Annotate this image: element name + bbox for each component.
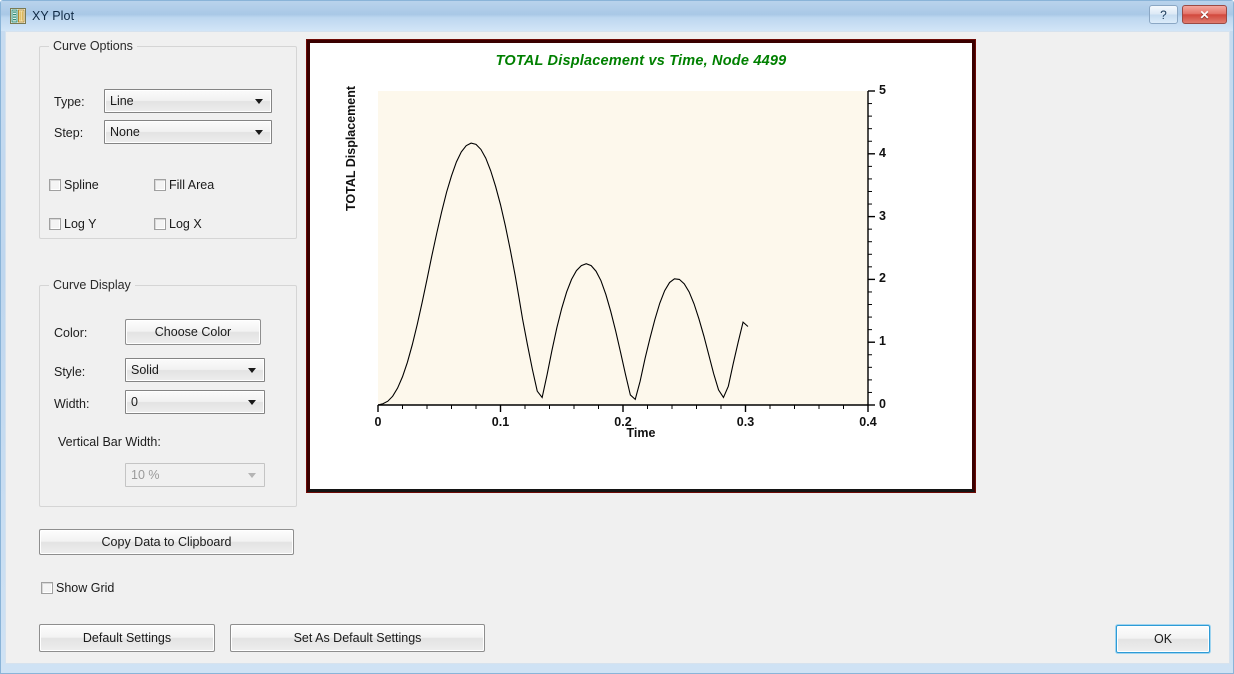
y-tick-label: 5 <box>879 83 886 97</box>
chevron-down-icon <box>255 130 263 135</box>
type-label: Type: <box>54 95 85 109</box>
copy-data-to-clipboard-button[interactable]: Copy Data to Clipboard <box>39 529 294 555</box>
vertical-bar-width-label: Vertical Bar Width: <box>58 435 161 449</box>
y-tick-label: 1 <box>879 334 886 348</box>
width-combobox[interactable]: 0 <box>125 390 265 414</box>
y-tick-label: 3 <box>879 209 886 223</box>
spline-checkbox-label: Spline <box>64 178 99 192</box>
set-as-default-settings-button[interactable]: Set As Default Settings <box>230 624 485 652</box>
style-combobox[interactable]: Solid <box>125 358 265 382</box>
curve-options-legend: Curve Options <box>49 39 137 53</box>
window-title: XY Plot <box>32 9 74 23</box>
type-combobox-value: Line <box>105 94 134 108</box>
fill-area-checkbox[interactable]: Fill Area <box>154 178 214 192</box>
curve-line <box>378 143 748 405</box>
style-label: Style: <box>54 365 85 379</box>
vertical-bar-width-combobox: 10 % <box>125 463 265 487</box>
curve-display-legend: Curve Display <box>49 278 135 292</box>
y-tick-label: 4 <box>879 146 886 160</box>
show-grid-checkbox[interactable]: Show Grid <box>41 581 114 595</box>
color-label: Color: <box>54 326 87 340</box>
title-bar: XY Plot ? ✕ <box>1 1 1233 31</box>
checkbox-box <box>154 218 166 230</box>
step-combobox-value: None <box>105 125 140 139</box>
log-y-checkbox[interactable]: Log Y <box>49 217 96 231</box>
default-settings-button[interactable]: Default Settings <box>39 624 215 652</box>
x-tick-label: 0.2 <box>614 415 631 429</box>
xy-plot-icon <box>10 8 26 24</box>
caption-buttons: ? ✕ <box>1149 5 1227 24</box>
client-area: Curve Options Type: Line Step: None Spli… <box>5 31 1230 664</box>
show-grid-checkbox-label: Show Grid <box>56 581 114 595</box>
xy-plot-window: XY Plot ? ✕ Curve Options Type: Line Ste… <box>0 0 1234 674</box>
x-tick-label: 0 <box>375 415 382 429</box>
checkbox-box <box>41 582 53 594</box>
chevron-down-icon <box>248 368 256 373</box>
width-combobox-value: 0 <box>126 395 138 409</box>
spline-checkbox[interactable]: Spline <box>49 178 99 192</box>
log-x-checkbox-label: Log X <box>169 217 202 231</box>
y-tick-label: 0 <box>879 397 886 411</box>
y-tick-label: 2 <box>879 271 886 285</box>
log-y-checkbox-label: Log Y <box>64 217 96 231</box>
checkbox-box <box>154 179 166 191</box>
chart-panel: TOTAL Displacement vs Time, Node 4499 TO… <box>307 40 975 492</box>
checkbox-box <box>49 218 61 230</box>
width-label: Width: <box>54 397 89 411</box>
ok-button[interactable]: OK <box>1116 625 1210 653</box>
type-combobox[interactable]: Line <box>104 89 272 113</box>
fill-area-checkbox-label: Fill Area <box>169 178 214 192</box>
x-tick-label: 0.3 <box>737 415 754 429</box>
chevron-down-icon <box>248 473 256 478</box>
curve-display-group: Curve Display Color: Choose Color Style:… <box>39 285 297 507</box>
x-tick-label: 0.4 <box>859 415 876 429</box>
step-label: Step: <box>54 126 83 140</box>
vertical-bar-width-value: 10 % <box>126 468 160 482</box>
chart-inner: TOTAL Displacement vs Time, Node 4499 TO… <box>310 43 972 489</box>
style-combobox-value: Solid <box>126 363 159 377</box>
checkbox-box <box>49 179 61 191</box>
close-button[interactable]: ✕ <box>1182 5 1227 24</box>
log-x-checkbox[interactable]: Log X <box>154 217 202 231</box>
chevron-down-icon <box>255 99 263 104</box>
x-tick-label: 0.1 <box>492 415 509 429</box>
choose-color-button[interactable]: Choose Color <box>125 319 261 345</box>
curve-options-group: Curve Options Type: Line Step: None Spli… <box>39 46 297 239</box>
help-button[interactable]: ? <box>1149 5 1178 24</box>
chevron-down-icon <box>248 400 256 405</box>
step-combobox[interactable]: None <box>104 120 272 144</box>
